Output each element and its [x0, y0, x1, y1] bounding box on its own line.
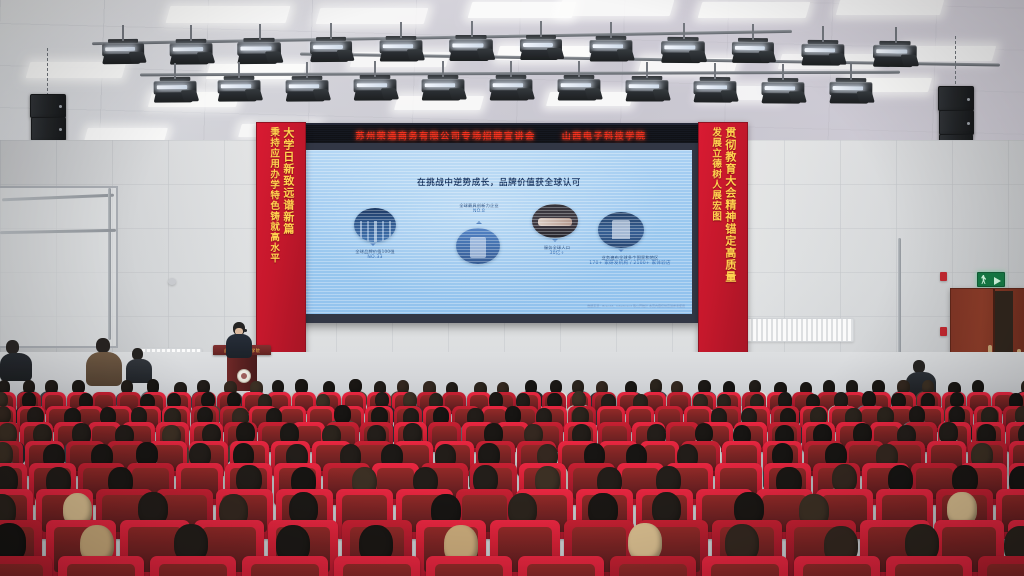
auditorium-seat[interactable]: [702, 556, 788, 576]
seat-cushion: [987, 564, 1024, 576]
auditorium-seat[interactable]: [794, 556, 880, 576]
seat-cushion: [527, 564, 594, 576]
auditorium-photo: 苏州荣通商务有限公司专场招聘宣讲会 山西电子科技学院 在挑战中逆势成长，品牌价值…: [0, 0, 1024, 576]
seat-cushion: [619, 564, 686, 576]
auditorium-seat[interactable]: [886, 556, 972, 576]
seat-cushion: [343, 564, 410, 576]
seat-cushion: [67, 564, 134, 576]
seat-cushion: [895, 564, 962, 576]
auditorium-seat[interactable]: [334, 556, 420, 576]
auditorium-seat[interactable]: [0, 556, 52, 576]
auditorium-seat[interactable]: [610, 556, 696, 576]
seat-cushion: [803, 564, 870, 576]
auditorium-seat[interactable]: [426, 556, 512, 576]
auditorium-seat[interactable]: [242, 556, 328, 576]
seat-cushion: [435, 564, 502, 576]
seat-cushion: [251, 564, 318, 576]
seat-row: [0, 0, 1024, 576]
seat-cushion: [711, 564, 778, 576]
auditorium-seat[interactable]: [58, 556, 144, 576]
auditorium-seat[interactable]: [978, 556, 1024, 576]
auditorium-seat[interactable]: [150, 556, 236, 576]
auditorium-seat[interactable]: [518, 556, 604, 576]
seat-cushion: [0, 564, 43, 576]
seat-cushion: [159, 564, 226, 576]
